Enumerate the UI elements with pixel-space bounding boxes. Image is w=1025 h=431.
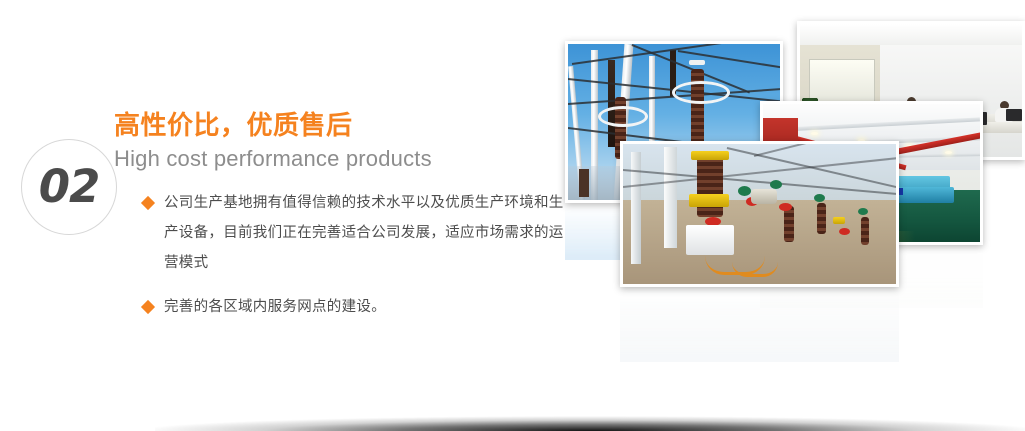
diamond-bullet-icon — [141, 300, 155, 314]
step-number-badge: 02 — [21, 139, 117, 235]
list-item-text: 完善的各区域内服务网点的建设。 — [164, 292, 573, 322]
list-item-text: 公司生产基地拥有值得信赖的技术水平以及优质生产环境和生产设备，目前我们正在完善适… — [164, 188, 573, 278]
page-title: 高性价比，优质售后 — [114, 111, 353, 139]
slide-canvas: 02 高性价比，优质售后 High cost performance produ… — [0, 0, 1025, 431]
photo-reflection-substation-close — [620, 288, 899, 362]
photo-substation-closeup[interactable] — [620, 141, 899, 287]
list-item: 完善的各区域内服务网点的建设。 — [143, 292, 573, 322]
bullet-list: 公司生产基地拥有值得信赖的技术水平以及优质生产环境和生产设备，目前我们正在完善适… — [143, 188, 573, 322]
list-item: 公司生产基地拥有值得信赖的技术水平以及优质生产环境和生产设备，目前我们正在完善适… — [143, 188, 573, 278]
page-subtitle: High cost performance products — [114, 147, 432, 171]
step-number-label: 02 — [39, 164, 100, 209]
diamond-bullet-icon — [141, 196, 155, 210]
